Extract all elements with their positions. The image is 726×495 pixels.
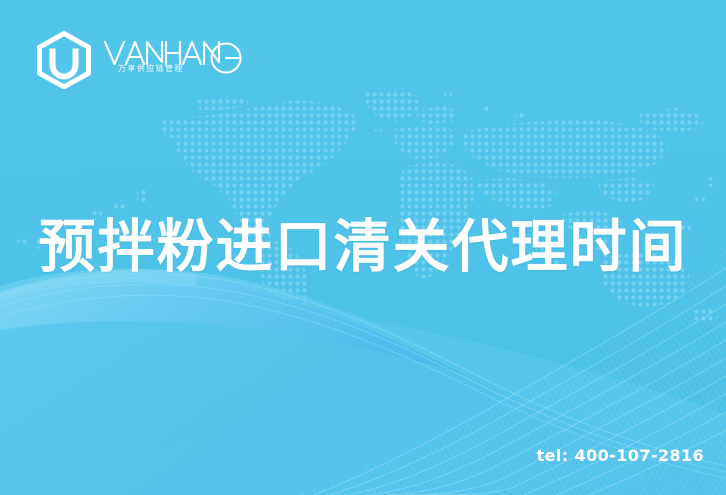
brand-logo[interactable]: 万享供应链管理 xyxy=(34,31,242,89)
hexagon-u-mark-icon xyxy=(34,31,94,89)
logo-subtitle: 万享供应链管理 xyxy=(118,63,184,74)
headline-title: 预拌粉进口清关代理时间 xyxy=(0,212,726,282)
contact-phone[interactable]: tel: 400-107-2816 xyxy=(537,446,704,465)
promo-banner: 万享供应链管理 预拌粉进口清关代理时间 tel: 400-107-2816 xyxy=(0,0,726,495)
logo-wordmark-group: 万享供应链管理 xyxy=(102,36,242,84)
